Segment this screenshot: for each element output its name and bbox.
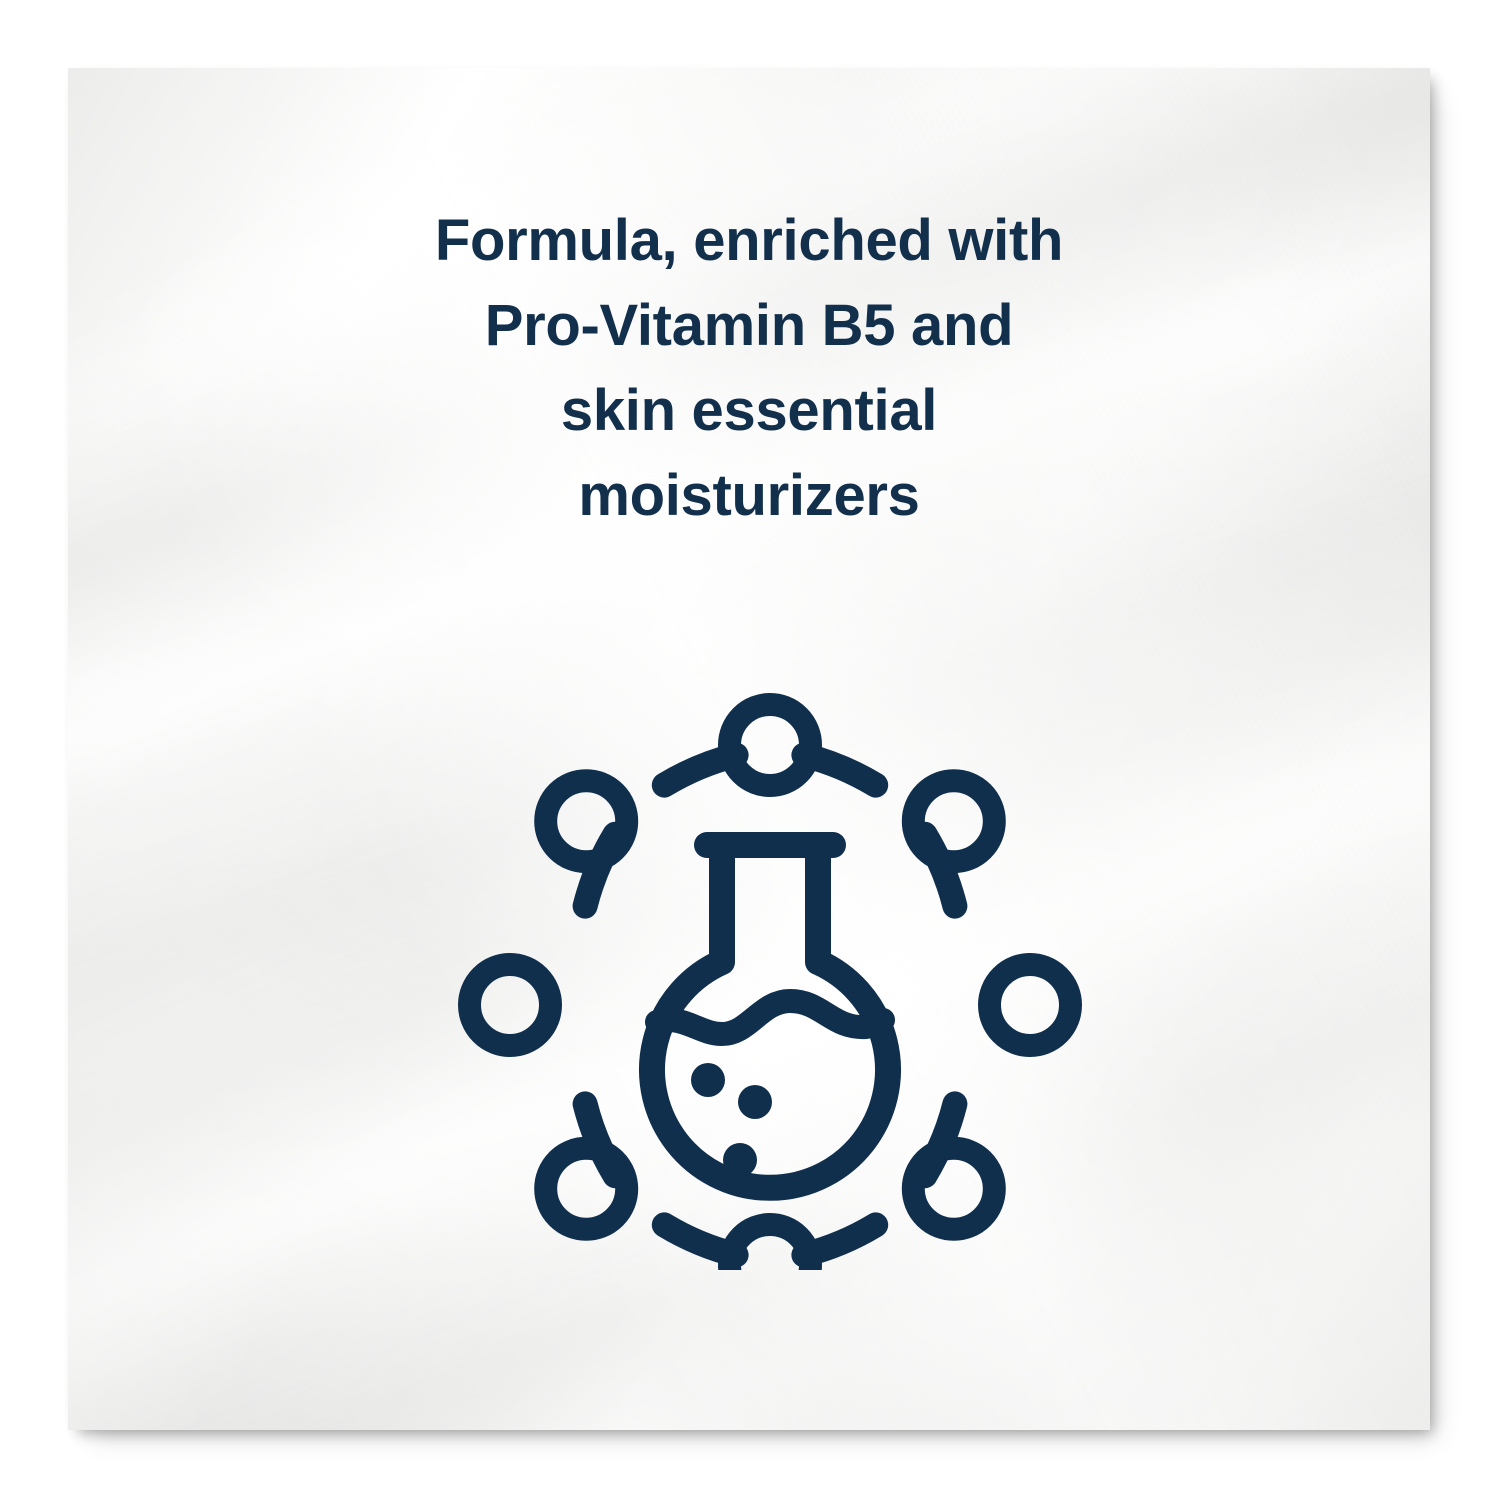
headline-line-3: skin essential xyxy=(68,368,1430,453)
flask-bubble-2 xyxy=(738,1085,772,1119)
flask-bubble-1 xyxy=(691,1063,725,1097)
ring-node-right xyxy=(990,965,1071,1046)
flask-molecule-ring-svg xyxy=(450,630,1090,1270)
ring-node-top-right xyxy=(913,781,994,862)
ring-node-top-left xyxy=(546,781,627,862)
ring-node-bottom-left xyxy=(546,1148,627,1229)
flask-bubble-3 xyxy=(723,1143,757,1177)
headline-line-2: Pro-Vitamin B5 and xyxy=(68,283,1430,368)
headline-line-4: moisturizers xyxy=(68,453,1430,538)
product-benefit-card: Formula, enriched with Pro-Vitamin B5 an… xyxy=(68,68,1430,1430)
headline-line-1: Formula, enriched with xyxy=(68,198,1430,283)
flask-molecule-ring-icon xyxy=(450,630,1090,1270)
ring-node-left xyxy=(470,965,551,1046)
screenshot-root: Formula, enriched with Pro-Vitamin B5 an… xyxy=(0,0,1500,1500)
flask-liquid-surface xyxy=(657,1001,883,1034)
ring-node-bottom-right xyxy=(913,1148,994,1229)
benefit-headline: Formula, enriched with Pro-Vitamin B5 an… xyxy=(68,198,1430,538)
